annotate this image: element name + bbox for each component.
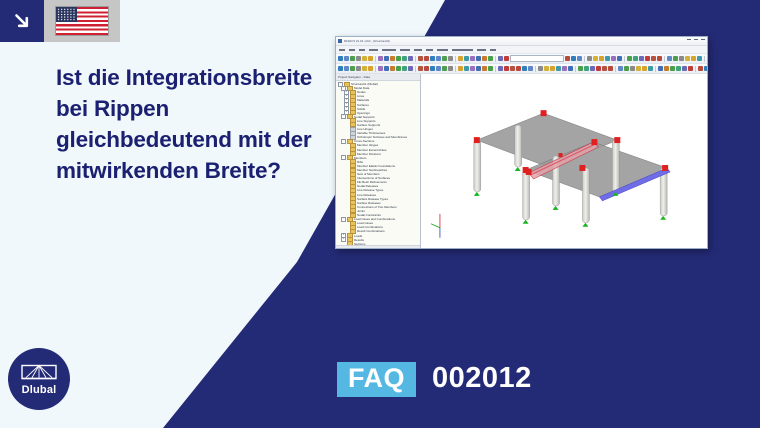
toolbar-button[interactable] bbox=[667, 56, 672, 61]
toolbar-button[interactable] bbox=[648, 66, 653, 71]
toolbar-separator bbox=[535, 66, 536, 72]
toolbar-button[interactable] bbox=[402, 66, 407, 71]
toolbar-separator bbox=[584, 56, 585, 62]
menu-item-edit[interactable] bbox=[349, 49, 355, 51]
toolbar-button[interactable] bbox=[544, 66, 549, 71]
toolbar-button[interactable] bbox=[418, 66, 423, 71]
slide-canvas: Ist die Integrationsbreite bei Rippen gl… bbox=[0, 0, 760, 428]
menu-item-view[interactable] bbox=[359, 49, 365, 51]
language-flag-badge[interactable] bbox=[44, 0, 120, 42]
toolbar-button[interactable] bbox=[698, 66, 703, 71]
flag-stars bbox=[57, 8, 76, 21]
toolbar-button[interactable] bbox=[442, 66, 447, 71]
tree-item-label: Sections bbox=[354, 242, 366, 245]
toolbar-separator bbox=[455, 56, 456, 62]
toolbar-button[interactable] bbox=[418, 56, 423, 61]
toolbar-button[interactable] bbox=[510, 66, 515, 71]
menu-item-results[interactable] bbox=[400, 49, 411, 51]
collapse-icon[interactable]: - bbox=[341, 155, 346, 160]
toolbar-combo[interactable] bbox=[510, 55, 564, 62]
toolbar-button[interactable] bbox=[516, 66, 521, 71]
toolbar-button[interactable] bbox=[630, 66, 635, 71]
toolbar-button[interactable] bbox=[578, 66, 583, 71]
structural-model-3d bbox=[422, 74, 707, 249]
toolbar-button[interactable] bbox=[378, 56, 383, 61]
collapse-icon[interactable]: - bbox=[341, 114, 346, 119]
toolbar-button[interactable] bbox=[356, 56, 361, 61]
toolbar-button[interactable] bbox=[682, 66, 687, 71]
toolbar-button[interactable] bbox=[408, 56, 413, 61]
window-title: RFEM 5.21.01 xx64 - [Structure01] bbox=[344, 39, 390, 43]
collapse-icon[interactable]: - bbox=[341, 217, 346, 222]
toolbar-button[interactable] bbox=[688, 66, 693, 71]
navigator-tree[interactable]: -Structure01 (Dlubal)-Model Data+Nodes+L… bbox=[336, 81, 420, 245]
toolbar-button[interactable] bbox=[498, 56, 503, 61]
application-window[interactable]: RFEM 5.21.01 xx64 - [Structure01] Projec… bbox=[335, 36, 708, 249]
menu-item-add-on-modules[interactable] bbox=[452, 49, 473, 51]
toolbar-separator bbox=[455, 66, 456, 72]
toolbar-button[interactable] bbox=[436, 56, 441, 61]
toolbar-button[interactable] bbox=[556, 66, 561, 71]
toolbar-button[interactable] bbox=[390, 66, 395, 71]
toolbar-button[interactable] bbox=[464, 66, 469, 71]
arrow-down-right-icon bbox=[12, 11, 32, 31]
toolbar-button[interactable] bbox=[590, 66, 595, 71]
toolbar-button[interactable] bbox=[362, 66, 367, 71]
window-body: Project Navigator - Data -Structure01 (D… bbox=[336, 74, 707, 249]
toolbar-button[interactable] bbox=[402, 56, 407, 61]
toolbar-button[interactable] bbox=[522, 66, 527, 71]
toolbar-button[interactable] bbox=[673, 56, 678, 61]
toolbar-button[interactable] bbox=[482, 56, 487, 61]
navigator-header: Project Navigator - Data bbox=[336, 74, 420, 81]
toolbar-button[interactable] bbox=[584, 66, 589, 71]
toolbar-button[interactable] bbox=[430, 66, 435, 71]
toolbar-button[interactable] bbox=[651, 56, 656, 61]
toolbar-button[interactable] bbox=[464, 56, 469, 61]
dlubal-logo[interactable]: Dlubal bbox=[8, 348, 70, 410]
toolbar-button[interactable] bbox=[658, 66, 663, 71]
toolbar-button[interactable] bbox=[642, 66, 647, 71]
toolbar-button[interactable] bbox=[538, 66, 543, 71]
toolbar-separator bbox=[375, 56, 376, 62]
toolbar-button[interactable] bbox=[608, 66, 613, 71]
toolbar-button[interactable] bbox=[424, 66, 429, 71]
menu-item-window[interactable] bbox=[477, 49, 486, 51]
toolbar-button[interactable] bbox=[390, 56, 395, 61]
toolbar-button[interactable] bbox=[587, 56, 592, 61]
toolbar-button[interactable] bbox=[636, 66, 641, 71]
toolbar-separator bbox=[664, 56, 665, 62]
navigator-tab-display[interactable]: Display bbox=[347, 247, 357, 249]
toolbar-button[interactable] bbox=[596, 66, 601, 71]
toolbar-button[interactable] bbox=[448, 56, 453, 61]
toolbar-button[interactable] bbox=[482, 66, 487, 71]
toolbar-button[interactable] bbox=[633, 56, 638, 61]
toolbar-button[interactable] bbox=[664, 66, 669, 71]
toolbar-button[interactable] bbox=[470, 66, 475, 71]
toolbar-separator bbox=[375, 66, 376, 72]
toolbar-button[interactable] bbox=[458, 56, 463, 61]
toolbar-button[interactable] bbox=[611, 56, 616, 61]
toolbar-separator bbox=[615, 66, 616, 72]
toolbar-button[interactable] bbox=[679, 56, 684, 61]
toolbar-button[interactable] bbox=[565, 56, 570, 61]
toolbar-button[interactable] bbox=[396, 56, 401, 61]
app-icon bbox=[338, 39, 342, 43]
toolbar-button[interactable] bbox=[624, 66, 629, 71]
expand-icon[interactable]: + bbox=[341, 237, 346, 242]
collapse-icon[interactable]: - bbox=[341, 139, 346, 144]
toolbar-button[interactable] bbox=[368, 56, 373, 61]
toolbar-button[interactable] bbox=[338, 66, 343, 71]
toolbar-button[interactable] bbox=[504, 56, 509, 61]
arrow-badge[interactable] bbox=[0, 0, 44, 42]
toolbar-button[interactable] bbox=[691, 56, 696, 61]
bridge-truss-icon bbox=[20, 363, 58, 383]
toolbar-button[interactable] bbox=[448, 66, 453, 71]
toolbar-button[interactable] bbox=[676, 66, 681, 71]
toolbar-button[interactable] bbox=[396, 66, 401, 71]
toolbar-separator bbox=[495, 56, 496, 62]
menu-item-tools[interactable] bbox=[414, 49, 422, 51]
toolbar-button[interactable] bbox=[350, 56, 355, 61]
toolbar-button[interactable] bbox=[617, 56, 622, 61]
toolbar-separator bbox=[495, 66, 496, 72]
toolbar-button[interactable] bbox=[378, 66, 383, 71]
toolbar-button[interactable] bbox=[670, 66, 675, 71]
toolbar-button[interactable] bbox=[436, 66, 441, 71]
navigator-tab-data[interactable]: Data bbox=[338, 247, 344, 249]
close-button[interactable] bbox=[701, 39, 705, 40]
toolbar-button[interactable] bbox=[476, 66, 481, 71]
toolbar-button[interactable] bbox=[685, 56, 690, 61]
toolbar-button[interactable] bbox=[645, 56, 650, 61]
toolbar-button[interactable] bbox=[424, 56, 429, 61]
toolbar-button[interactable] bbox=[568, 66, 573, 71]
navigator-tabs[interactable]: Data Display Views bbox=[336, 245, 420, 249]
axis-triad bbox=[431, 214, 440, 238]
toolbar-button[interactable] bbox=[528, 66, 533, 71]
toolbar-button[interactable] bbox=[571, 56, 576, 61]
menu-item-insert[interactable] bbox=[369, 49, 378, 51]
maximize-button[interactable] bbox=[694, 39, 698, 40]
navigator-tab-views[interactable]: Views bbox=[360, 247, 368, 249]
minimize-button[interactable] bbox=[687, 39, 691, 40]
toolbar-button[interactable] bbox=[344, 66, 349, 71]
toolbar-button[interactable] bbox=[476, 56, 481, 61]
toolbar-button[interactable] bbox=[577, 56, 582, 61]
menu-item-table[interactable] bbox=[426, 49, 434, 51]
toolbar-button[interactable] bbox=[599, 56, 604, 61]
toolbar-button[interactable] bbox=[488, 56, 493, 61]
window-controls[interactable] bbox=[687, 39, 705, 40]
toolbar-button[interactable] bbox=[408, 66, 413, 71]
menu-item-calculate[interactable] bbox=[382, 49, 396, 51]
toolbar-button[interactable] bbox=[618, 66, 623, 71]
menu-bar[interactable] bbox=[336, 46, 707, 54]
toolbar-button[interactable] bbox=[639, 56, 644, 61]
toolbar-separator bbox=[575, 66, 576, 72]
project-navigator[interactable]: Project Navigator - Data -Structure01 (D… bbox=[336, 74, 421, 249]
toolbar-separator bbox=[415, 56, 416, 62]
toolbar-separator bbox=[695, 66, 696, 72]
logo-wordmark: Dlubal bbox=[22, 384, 57, 396]
toolbar-button[interactable] bbox=[627, 56, 632, 61]
toolbar-button[interactable] bbox=[430, 56, 435, 61]
toolbar-separator bbox=[704, 56, 705, 62]
toolbar-separator bbox=[415, 66, 416, 72]
toolbar-button[interactable] bbox=[356, 66, 361, 71]
toolbar-button[interactable] bbox=[657, 56, 662, 61]
toolbar-separator bbox=[624, 56, 625, 62]
toolbar-button[interactable] bbox=[562, 66, 567, 71]
toolbar-row-1[interactable] bbox=[336, 54, 707, 64]
toolbar-button[interactable] bbox=[344, 56, 349, 61]
menu-item-file[interactable] bbox=[339, 49, 345, 51]
faq-number: 002012 bbox=[432, 362, 532, 394]
page-title: Ist die Integrationsbreite bei Rippen gl… bbox=[56, 62, 324, 186]
toolbar-button[interactable] bbox=[368, 66, 373, 71]
toolbar-button[interactable] bbox=[704, 66, 707, 71]
model-viewport[interactable] bbox=[421, 74, 707, 249]
toolbar-button[interactable] bbox=[384, 66, 389, 71]
toolbar-button[interactable] bbox=[550, 66, 555, 71]
toolbar-button[interactable] bbox=[488, 66, 493, 71]
toolbar-button[interactable] bbox=[504, 66, 509, 71]
toolbar-button[interactable] bbox=[384, 56, 389, 61]
toolbar-button[interactable] bbox=[362, 56, 367, 61]
toolbar-row-2[interactable] bbox=[336, 64, 707, 74]
toolbar-button[interactable] bbox=[697, 56, 702, 61]
toolbar-button[interactable] bbox=[593, 56, 598, 61]
toolbar-button[interactable] bbox=[605, 56, 610, 61]
toolbar-button[interactable] bbox=[338, 56, 343, 61]
menu-item-options[interactable] bbox=[437, 49, 448, 51]
toolbar-button[interactable] bbox=[498, 66, 503, 71]
toolbar-button[interactable] bbox=[470, 56, 475, 61]
toolbar-button[interactable] bbox=[350, 66, 355, 71]
us-flag-icon bbox=[55, 6, 109, 36]
toolbar-button[interactable] bbox=[602, 66, 607, 71]
faq-badge: FAQ bbox=[337, 362, 416, 397]
menu-item-help[interactable] bbox=[490, 49, 496, 51]
toolbar-button[interactable] bbox=[458, 66, 463, 71]
toolbar-separator bbox=[655, 66, 656, 72]
flag-canton bbox=[56, 7, 77, 22]
toolbar-button[interactable] bbox=[442, 56, 447, 61]
window-titlebar: RFEM 5.21.01 xx64 - [Structure01] bbox=[336, 37, 707, 46]
